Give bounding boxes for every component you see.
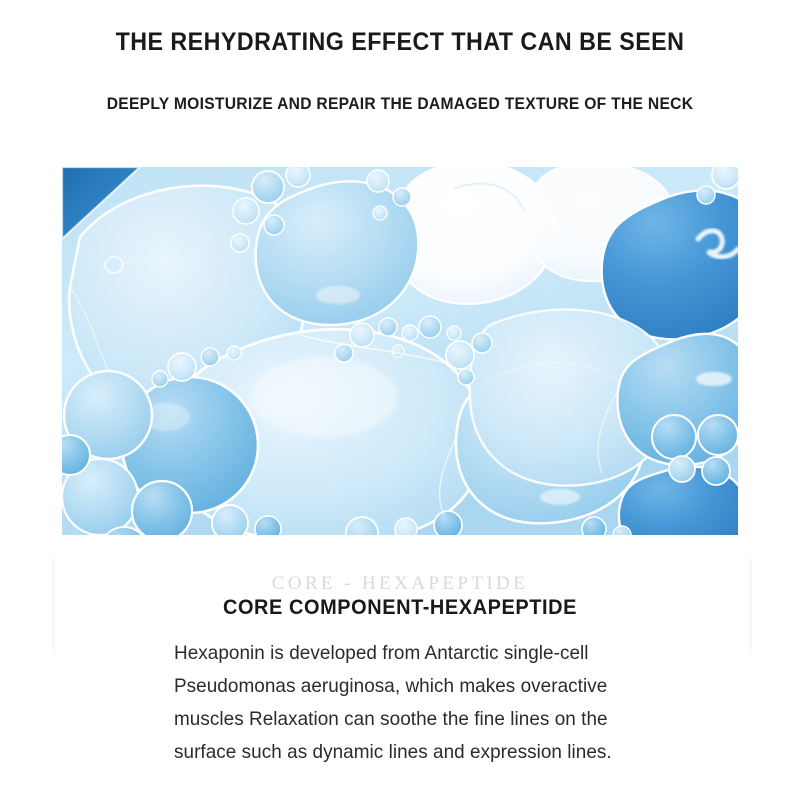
paragraph-line: muscles Relaxation can soothe the fine l… [174,703,688,736]
section-eyebrow: CORE - HEXAPEPTIDE [0,572,800,595]
page-subheadline: DEEPLY MOISTURIZE AND REPAIR THE DAMAGED… [32,93,768,114]
product-detail-page: THE REHYDRATING EFFECT THAT CAN BE SEEN … [0,0,800,800]
hero-bubble-image [62,167,738,535]
page-headline: THE REHYDRATING EFFECT THAT CAN BE SEEN [28,27,772,57]
paragraph-line: surface such as dynamic lines and expres… [174,736,688,769]
bubble-illustration [62,167,738,535]
section-title: CORE COMPONENT-HEXAPEPTIDE [20,595,780,621]
paragraph-line: Hexaponin is developed from Antarctic si… [174,637,688,670]
section-paragraph: Hexaponin is developed from Antarctic si… [174,637,688,769]
paragraph-line: Pseudomonas aeruginosa, which makes over… [174,670,688,703]
